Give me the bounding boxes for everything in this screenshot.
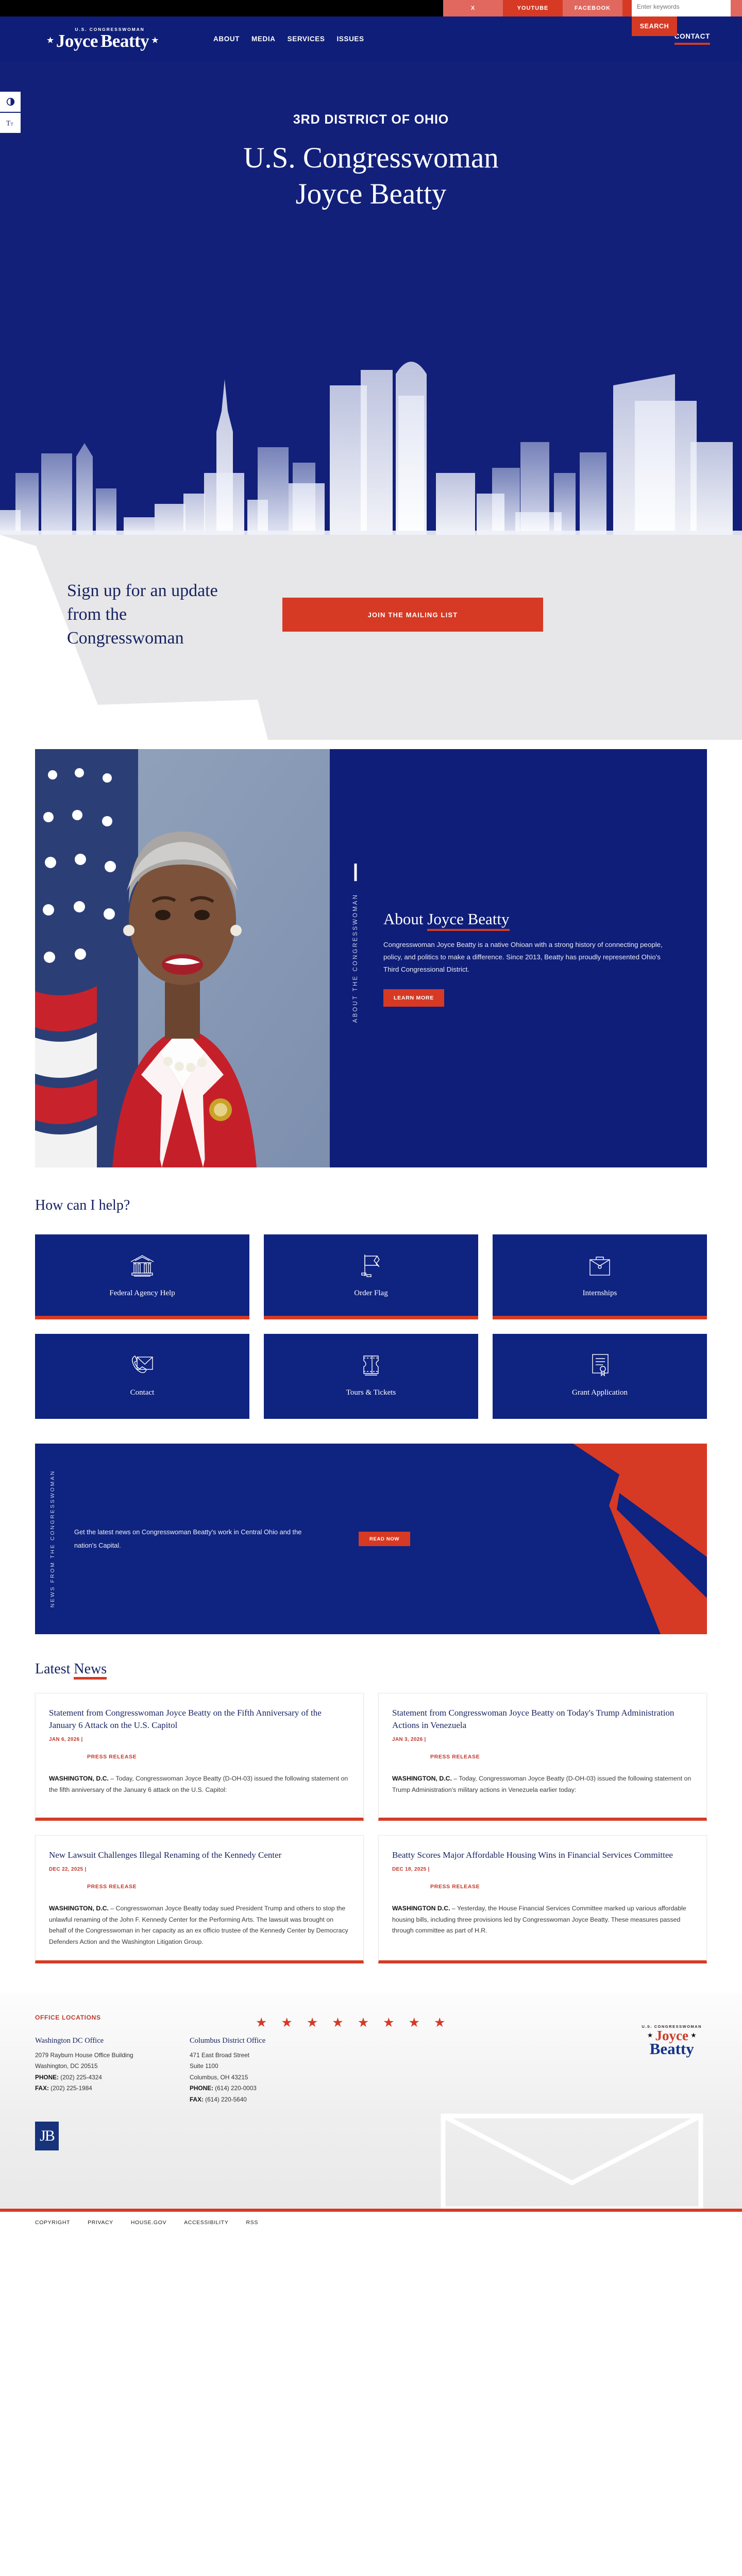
- help-card-label: Grant Application: [572, 1388, 628, 1397]
- news-card-body: WASHINGTON D.C. – Yesterday, the House F…: [392, 1903, 693, 1937]
- nav-item-services[interactable]: SERVICES: [288, 35, 325, 43]
- search-input[interactable]: [632, 0, 731, 16]
- site-logo[interactable]: U.S. CONGRESSWOMAN ★ JoyceBeatty ★: [18, 27, 188, 50]
- social-label: X: [471, 5, 475, 11]
- news-card-lede: WASHINGTON, D.C.: [392, 1775, 452, 1782]
- certificate-icon: [585, 1352, 614, 1380]
- news-card-body: WASHINGTON, D.C. – Today, Congresswoman …: [392, 1773, 693, 1795]
- about-paragraph: Congresswoman Joyce Beatty is a native O…: [383, 939, 672, 976]
- news-card-body: WASHINGTON, D.C. – Today, Congresswoman …: [49, 1773, 350, 1795]
- site-footer: ★ ★ ★ ★ ★ ★ ★ ★ OFFICE LOCATIONS Washing…: [0, 1992, 742, 2209]
- news-card-grid: Statement from Congresswoman Joyce Beatt…: [35, 1693, 707, 1963]
- hero-title-block: 3RD DISTRICT OF OHIO U.S. Congresswoman …: [0, 61, 742, 212]
- news-card-date: JAN 3, 2026 |: [392, 1737, 693, 1742]
- footer-link-rss[interactable]: RSS: [246, 2219, 258, 2226]
- contact-active-underline: [674, 43, 710, 45]
- hero-section: T T: [0, 61, 742, 535]
- footer-content: OFFICE LOCATIONS Washington DC Office 20…: [0, 2014, 742, 2150]
- help-card-label: Contact: [130, 1388, 155, 1397]
- footer-logo[interactable]: U.S. CONGRESSWOMAN ★ Joyce ★ Beatty: [642, 2024, 702, 2057]
- about-section: ABOUT THE CONGRESSWOMAN About Joyce Beat…: [0, 740, 742, 1167]
- news-banner: NEWS FROM THE CONGRESSWOMAN Get the late…: [35, 1444, 707, 1634]
- help-card-internships[interactable]: Internships: [493, 1234, 707, 1319]
- news-card-title: New Lawsuit Challenges Illegal Renaming …: [49, 1849, 350, 1861]
- star-icon: ★: [691, 2033, 696, 2038]
- news-card-lede: WASHINGTON D.C.: [392, 1905, 450, 1912]
- office-address-line: 2079 Rayburn House Office Building: [35, 2050, 169, 2061]
- news-card[interactable]: New Lawsuit Challenges Illegal Renaming …: [35, 1835, 364, 1963]
- news-card-body: WASHINGTON, D.C. – Congresswoman Joyce B…: [49, 1903, 350, 1948]
- news-card-title: Statement from Congresswoman Joyce Beatt…: [49, 1707, 350, 1732]
- signup-heading: Sign up for an update from the Congressw…: [67, 579, 237, 651]
- news-card-date: DEC 22, 2025 |: [49, 1867, 350, 1872]
- help-card-order-flag[interactable]: Order Flag: [264, 1234, 478, 1319]
- help-card-contact[interactable]: Contact: [35, 1334, 249, 1419]
- fax-label: FAX:: [190, 2096, 204, 2103]
- contrast-toggle-button[interactable]: [0, 92, 21, 113]
- offices-list: Washington DC Office 2079 Rayburn House …: [35, 2037, 707, 2105]
- logo-wordmark: ★ JoyceBeatty ★: [18, 32, 188, 50]
- office-fax: FAX: (202) 225-1984: [35, 2083, 169, 2094]
- help-card-tours-tickets[interactable]: Tours & Tickets: [264, 1334, 478, 1419]
- help-card-federal-agency-help[interactable]: Federal Agency Help: [35, 1234, 249, 1319]
- latest-heading-plain: Latest: [35, 1661, 74, 1677]
- star-icon: ★: [151, 37, 158, 45]
- news-card-tag: PRESS RELEASE: [430, 1754, 693, 1760]
- office-fax: FAX: (614) 220-5640: [190, 2094, 324, 2105]
- help-card-label: Tours & Tickets: [346, 1388, 396, 1397]
- news-card-tag: PRESS RELEASE: [430, 1884, 693, 1890]
- news-card-date: JAN 6, 2026 |: [49, 1737, 350, 1742]
- hero-heading-line1: U.S. Congresswoman: [0, 140, 742, 176]
- footer-link-privacy[interactable]: PRIVACY: [88, 2219, 113, 2226]
- office-locations-label: OFFICE LOCATIONS: [35, 2014, 707, 2021]
- footer-link-house-gov[interactable]: HOUSE.GOV: [131, 2219, 166, 2226]
- help-heading: How can I help?: [35, 1197, 707, 1214]
- columbus-skyline-illustration: [0, 318, 742, 535]
- about-panel: ABOUT THE CONGRESSWOMAN About Joyce Beat…: [330, 749, 707, 1167]
- social-label: FACEBOOK: [575, 5, 611, 11]
- about-content: About Joyce Beatty Congresswoman Joyce B…: [383, 910, 672, 1007]
- office-name: Washington DC Office: [35, 2037, 169, 2045]
- hero-eyebrow: 3RD DISTRICT OF OHIO: [0, 112, 742, 127]
- nav-item-about[interactable]: ABOUT: [213, 35, 240, 43]
- search-button[interactable]: SEARCH: [632, 16, 677, 36]
- footer-links-bar: COPYRIGHT PRIVACY HOUSE.GOV ACCESSIBILIT…: [0, 2212, 742, 2233]
- flag-icon: [357, 1252, 385, 1281]
- signup-content: Sign up for an update from the Congressw…: [0, 535, 742, 651]
- star-icon: ★: [648, 2033, 653, 2038]
- about-heading: About Joyce Beatty: [383, 910, 510, 928]
- jb-monogram: JB: [35, 2122, 59, 2150]
- about-vertical-label-text: ABOUT THE CONGRESSWOMAN: [352, 893, 359, 1023]
- signup-section: Sign up for an update from the Congressw…: [0, 535, 742, 740]
- latest-news-heading: Latest News: [35, 1661, 707, 1677]
- social-link-x[interactable]: X: [443, 0, 503, 16]
- social-link-youtube[interactable]: YOUTUBE: [503, 0, 563, 16]
- help-card-grant-application[interactable]: Grant Application: [493, 1334, 707, 1419]
- news-card-lede: WASHINGTON, D.C.: [49, 1905, 109, 1912]
- news-card-tag: PRESS RELEASE: [87, 1754, 350, 1760]
- portrait-illustration: [35, 749, 330, 1167]
- news-card-title: Beatty Scores Major Affordable Housing W…: [392, 1849, 693, 1861]
- office-address-line: Washington, DC 20515: [35, 2061, 169, 2072]
- text-size-icon: T T: [6, 118, 15, 127]
- office-address-line: Suite 1100: [190, 2061, 324, 2072]
- office-name: Columbus District Office: [190, 2037, 324, 2045]
- phone-value: (614) 220-0003: [213, 2084, 257, 2092]
- social-bar: X YOUTUBE FACEBOOK INSTAGRAM BLUESKY: [0, 0, 742, 16]
- help-card-label: Internships: [583, 1289, 617, 1298]
- logo-first: Joyce: [56, 32, 98, 50]
- phone-label: PHONE:: [35, 2074, 59, 2081]
- office-phone: PHONE: (614) 220-0003: [190, 2083, 324, 2094]
- homepage: X YOUTUBE FACEBOOK INSTAGRAM BLUESKY U.S…: [0, 0, 742, 2233]
- contrast-icon: [6, 97, 15, 106]
- nav-item-issues[interactable]: ISSUES: [336, 35, 364, 43]
- svg-text:T: T: [10, 122, 13, 127]
- vertical-label-bar: [355, 863, 357, 881]
- office-phone: PHONE: (202) 225-4324: [35, 2072, 169, 2083]
- hero-heading: U.S. Congresswoman Joyce Beatty: [0, 140, 742, 212]
- site-header: U.S. CONGRESSWOMAN ★ JoyceBeatty ★ ABOUT…: [0, 16, 742, 61]
- social-link-facebook[interactable]: FACEBOOK: [563, 0, 622, 16]
- fax-value: (614) 220-5640: [204, 2096, 247, 2103]
- fax-label: FAX:: [35, 2084, 49, 2092]
- help-card-grid: Federal Agency Help Order Flag: [35, 1234, 707, 1419]
- join-mailing-list-button[interactable]: JOIN THE MAILING LIST: [282, 598, 543, 632]
- news-card[interactable]: Statement from Congresswoman Joyce Beatt…: [378, 1693, 707, 1821]
- accessibility-widget: T T: [0, 92, 21, 134]
- help-card-label: Federal Agency Help: [109, 1289, 175, 1298]
- about-learn-more-button[interactable]: LEARN MORE: [383, 989, 444, 1007]
- news-card[interactable]: Statement from Congresswoman Joyce Beatt…: [35, 1693, 364, 1821]
- news-card[interactable]: Beatty Scores Major Affordable Housing W…: [378, 1835, 707, 1963]
- footer-link-accessibility[interactable]: ACCESSIBILITY: [184, 2219, 228, 2226]
- news-card-title: Statement from Congresswoman Joyce Beatt…: [392, 1707, 693, 1732]
- phone-envelope-icon: [128, 1352, 157, 1380]
- about-vertical-label: ABOUT THE CONGRESSWOMAN: [352, 893, 359, 1023]
- latest-news-section: Latest News Statement from Congresswoman…: [0, 1634, 742, 1992]
- news-card-date: DEC 18, 2025 |: [392, 1867, 693, 1872]
- nav-item-media[interactable]: MEDIA: [251, 35, 276, 43]
- logo-last: Beatty: [100, 32, 149, 50]
- fax-value: (202) 225-1984: [49, 2084, 92, 2092]
- office-address-line: 471 East Broad Street: [190, 2050, 324, 2061]
- star-icon: ★: [47, 37, 54, 45]
- footer-link-copyright[interactable]: COPYRIGHT: [35, 2219, 70, 2226]
- search-box: SEARCH: [632, 0, 731, 36]
- phone-value: (202) 225-4324: [59, 2074, 102, 2081]
- text-size-button[interactable]: T T: [0, 113, 21, 134]
- main-nav: ABOUT MEDIA SERVICES ISSUES: [213, 35, 364, 43]
- news-banner-vertical-label: NEWS FROM THE CONGRESSWOMAN: [49, 1470, 56, 1607]
- about-heading-underlined: Joyce Beatty: [427, 910, 509, 931]
- news-card-tag: PRESS RELEASE: [87, 1884, 350, 1890]
- help-card-label: Order Flag: [354, 1289, 387, 1298]
- hero-heading-line2: Joyce Beatty: [0, 176, 742, 212]
- office-address-line: Columbus, OH 43215: [190, 2072, 324, 2083]
- social-label: YOUTUBE: [517, 5, 549, 11]
- help-section: How can I help? Federal Agency Help: [0, 1167, 742, 1419]
- read-now-button[interactable]: READ NOW: [359, 1532, 410, 1546]
- about-heading-plain: About: [383, 910, 427, 928]
- briefcase-icon: [585, 1252, 614, 1281]
- office-washington-dc: Washington DC Office 2079 Rayburn House …: [35, 2037, 169, 2105]
- news-card-lede: WASHINGTON, D.C.: [49, 1775, 109, 1782]
- news-banner-text: Get the latest news on Congresswoman Bea…: [74, 1526, 322, 1552]
- latest-heading-underlined: News: [74, 1661, 107, 1680]
- government-building-icon: [128, 1252, 157, 1281]
- phone-label: PHONE:: [190, 2084, 213, 2092]
- footer-logo-last: Beatty: [642, 2041, 702, 2056]
- ticket-icon: [357, 1352, 385, 1380]
- office-columbus-district: Columbus District Office 471 East Broad …: [190, 2037, 324, 2105]
- congresswoman-portrait: [35, 749, 330, 1167]
- red-arrow-wedge: [491, 1444, 707, 1634]
